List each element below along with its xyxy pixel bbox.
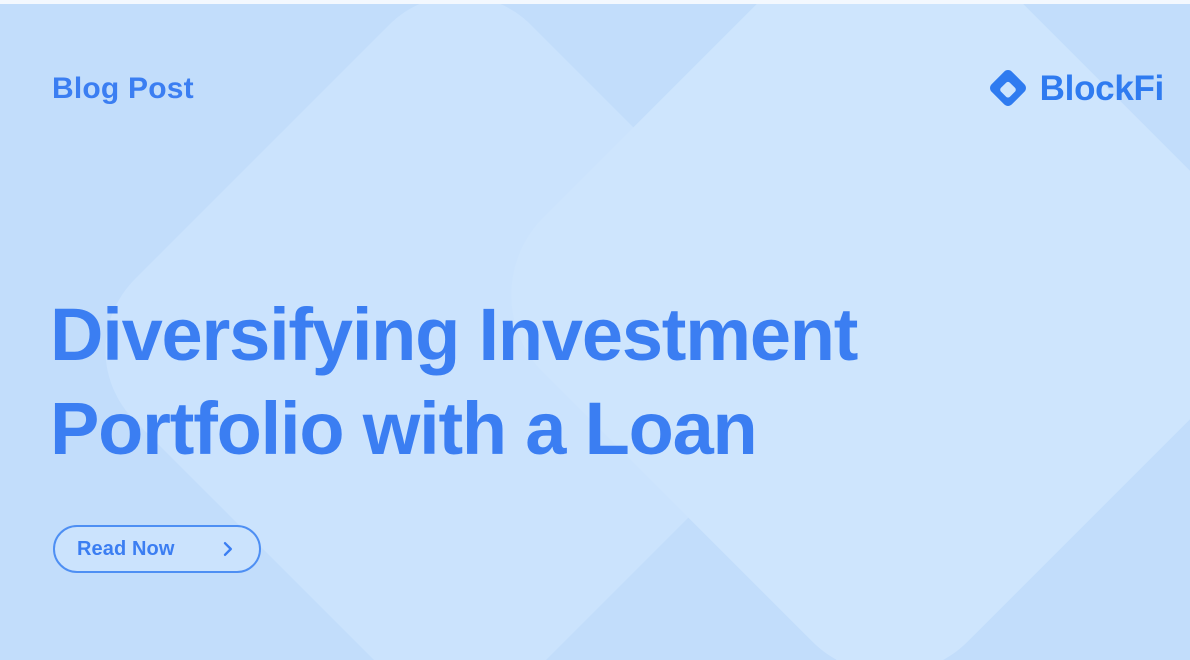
headline-line-1: Diversifying Investment: [50, 288, 1050, 383]
read-now-label: Read Now: [77, 539, 174, 559]
brand-lockup: BlockFi: [988, 68, 1164, 108]
headline-line-2: Portfolio with a Loan: [50, 382, 1050, 477]
kicker-label: Blog Post: [52, 74, 194, 104]
read-now-button[interactable]: Read Now: [53, 525, 261, 573]
top-edge-strip: [0, 0, 1190, 4]
page-title: Diversifying Investment Portfolio with a…: [50, 288, 1050, 477]
diamond-outline-icon: [988, 68, 1028, 108]
chevron-right-icon: [219, 540, 237, 558]
brand-name: BlockFi: [1040, 71, 1164, 106]
banner-content: Blog Post BlockFi Diversifying Investmen…: [0, 0, 1190, 660]
blog-post-banner: Blog Post BlockFi Diversifying Investmen…: [0, 0, 1190, 660]
